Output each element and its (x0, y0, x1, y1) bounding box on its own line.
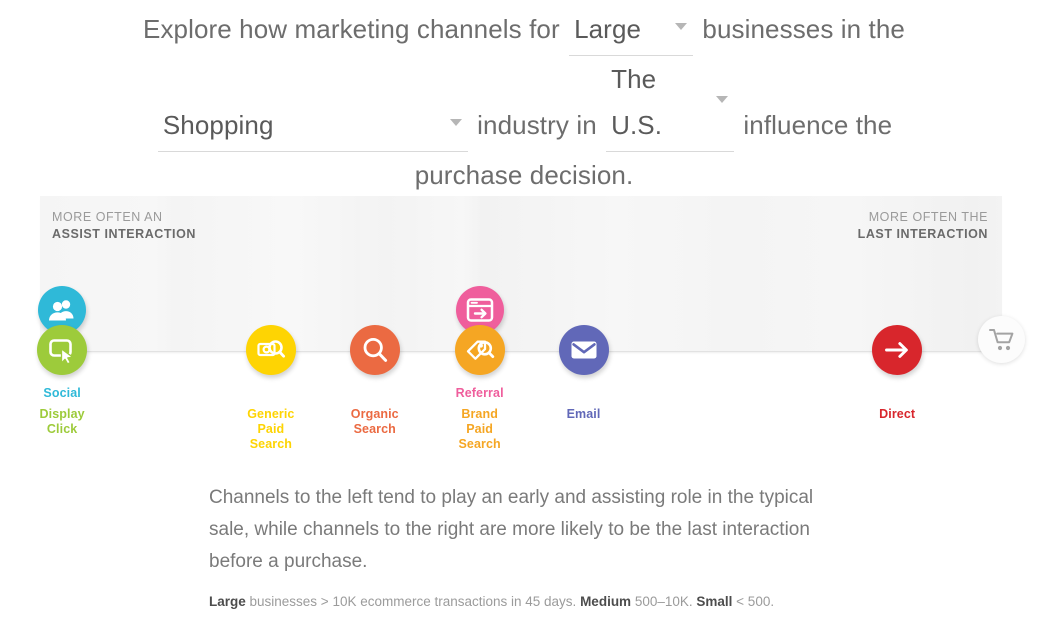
business-size-dropdown[interactable]: Large (569, 6, 693, 56)
chevron-down-icon (675, 23, 687, 30)
headline-part-3: industry (477, 110, 569, 140)
channel-label-direct: Direct (837, 407, 957, 422)
chevron-down-icon (716, 96, 728, 103)
geography-value: The U.S. (611, 64, 662, 140)
headline-part-2: businesses in the (702, 14, 905, 44)
channel-label-line: Click (47, 422, 77, 436)
explanatory-paragraph: Channels to the left tend to play an ear… (209, 482, 849, 578)
channel-label-line: Display (40, 407, 85, 421)
channel-label-line: Search (250, 437, 292, 451)
interaction-axis-panel: MORE OFTEN AN ASSIST INTERACTION MORE OF… (40, 196, 1002, 352)
channel-label-social: Social (2, 386, 122, 401)
assist-axis-caption: MORE OFTEN AN (52, 210, 163, 224)
industry-value: Shopping (163, 110, 274, 140)
definitions-footnote: Large businesses > 10K ecommerce transac… (209, 592, 909, 612)
last-interaction-axis-label: MORE OFTEN THE LAST INTERACTION (858, 209, 988, 243)
footnote-large-text: businesses > 10K ecommerce transactions … (246, 594, 580, 609)
page-root: Explore how marketing channels for Large… (0, 0, 1048, 626)
last-axis-caption: MORE OFTEN THE (869, 210, 988, 224)
channel-label-line: Referral (456, 386, 504, 400)
channel-label-line: Search (458, 437, 500, 451)
channel-label-generic-paid-search: GenericPaidSearch (211, 407, 331, 452)
footnote-small-label: Small (696, 594, 732, 609)
geography-dropdown[interactable]: The U.S. (606, 56, 734, 152)
channel-label-line: Paid (257, 422, 284, 436)
footnote-medium-label: Medium (580, 594, 631, 609)
last-axis-title: LAST INTERACTION (858, 226, 988, 243)
channel-label-referral: Referral (420, 386, 540, 401)
channel-label-line: Generic (247, 407, 294, 421)
footnote-large-label: Large (209, 594, 246, 609)
page-title: Explore how marketing channels for Large… (0, 0, 1048, 198)
channel-label-line: Search (354, 422, 396, 436)
channel-label-line: Direct (879, 407, 915, 421)
channel-label-line: Email (567, 407, 601, 421)
footnote-small-text: < 500. (732, 594, 774, 609)
footnote-medium-text: 500–10K. (631, 594, 696, 609)
channel-label-brand-paid-search: BrandPaidSearch (420, 407, 540, 452)
headline-part-1: Explore how marketing channels for (143, 14, 560, 44)
channel-label-line: Social (43, 386, 80, 400)
assist-axis-title: ASSIST INTERACTION (52, 226, 196, 243)
channel-label-organic-search: OrganicSearch (315, 407, 435, 437)
shopping-cart-icon (978, 316, 1025, 363)
channel-label-display-click: DisplayClick (2, 407, 122, 437)
channel-label-line: Organic (351, 407, 399, 421)
headline-part-4: in (576, 110, 596, 140)
chevron-down-icon (450, 119, 462, 126)
channel-label-email: Email (524, 407, 644, 422)
channel-label-line: Paid (466, 422, 493, 436)
business-size-value: Large (574, 14, 641, 44)
channel-label-line: Brand (461, 407, 498, 421)
industry-dropdown[interactable]: Shopping (158, 102, 468, 152)
assist-interaction-axis-label: MORE OFTEN AN ASSIST INTERACTION (52, 209, 196, 243)
